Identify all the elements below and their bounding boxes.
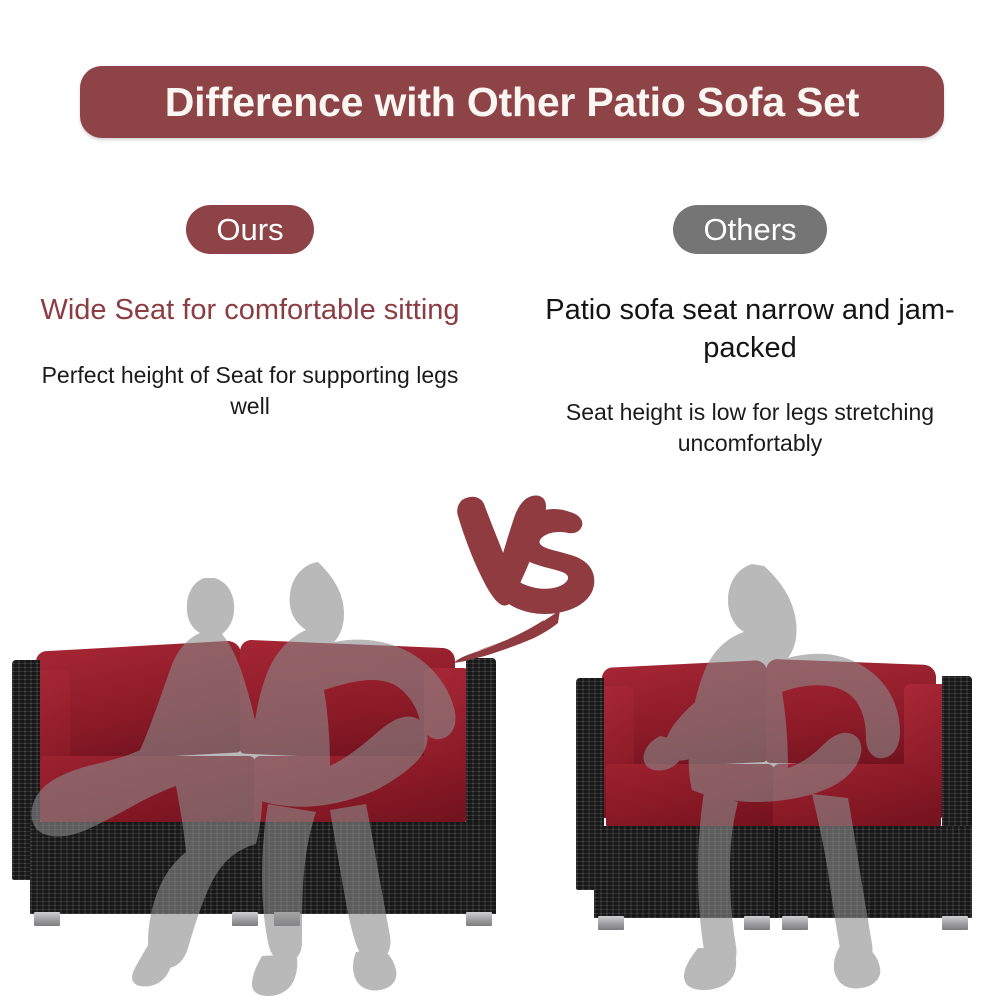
column-ours: Ours Wide Seat for comfortable sitting P… [0, 205, 500, 459]
silhouette-person-right [251, 562, 455, 807]
badge-ours: Ours [186, 205, 313, 254]
subtext-ours: Perfect height of Seat for supporting le… [24, 360, 476, 422]
column-others: Others Patio sofa seat narrow and jam-pa… [500, 205, 1000, 459]
silhouette-person-head-torso [689, 564, 900, 802]
comparison-columns: Ours Wide Seat for comfortable sitting P… [0, 205, 1000, 459]
silhouette-person-left-foot [132, 942, 173, 987]
silhouette-person-left [32, 578, 263, 968]
subtext-others: Seat height is low for legs stretching u… [524, 397, 976, 459]
silhouette-group-others [556, 560, 1000, 1000]
heading-others: Patio sofa seat narrow and jam-packed [540, 292, 960, 367]
page-title: Difference with Other Patio Sofa Set [165, 79, 860, 126]
silhouette-person-foot-right [834, 942, 880, 989]
silhouette-person-right-foot-left [252, 954, 297, 996]
heading-ours: Wide Seat for comfortable sitting [40, 292, 460, 330]
silhouette-person-right-foot-right [353, 948, 396, 991]
silhouette-group-ours [0, 560, 540, 1000]
badge-others-label: Others [703, 214, 796, 245]
silhouette-person-foot-left [684, 948, 736, 990]
scene-ours [0, 560, 540, 1000]
silhouette-person-leg-left [698, 792, 738, 970]
silhouette-person-right-legs [262, 804, 391, 962]
infographic-page: Difference with Other Patio Sofa Set Our… [0, 0, 1000, 1000]
silhouette-person-leg-right [812, 794, 873, 968]
silhouette-person-hand [643, 736, 683, 771]
badge-ours-label: Ours [216, 214, 283, 245]
scene-others [556, 560, 1000, 1000]
header-banner: Difference with Other Patio Sofa Set [80, 66, 944, 138]
badge-others: Others [673, 205, 826, 254]
